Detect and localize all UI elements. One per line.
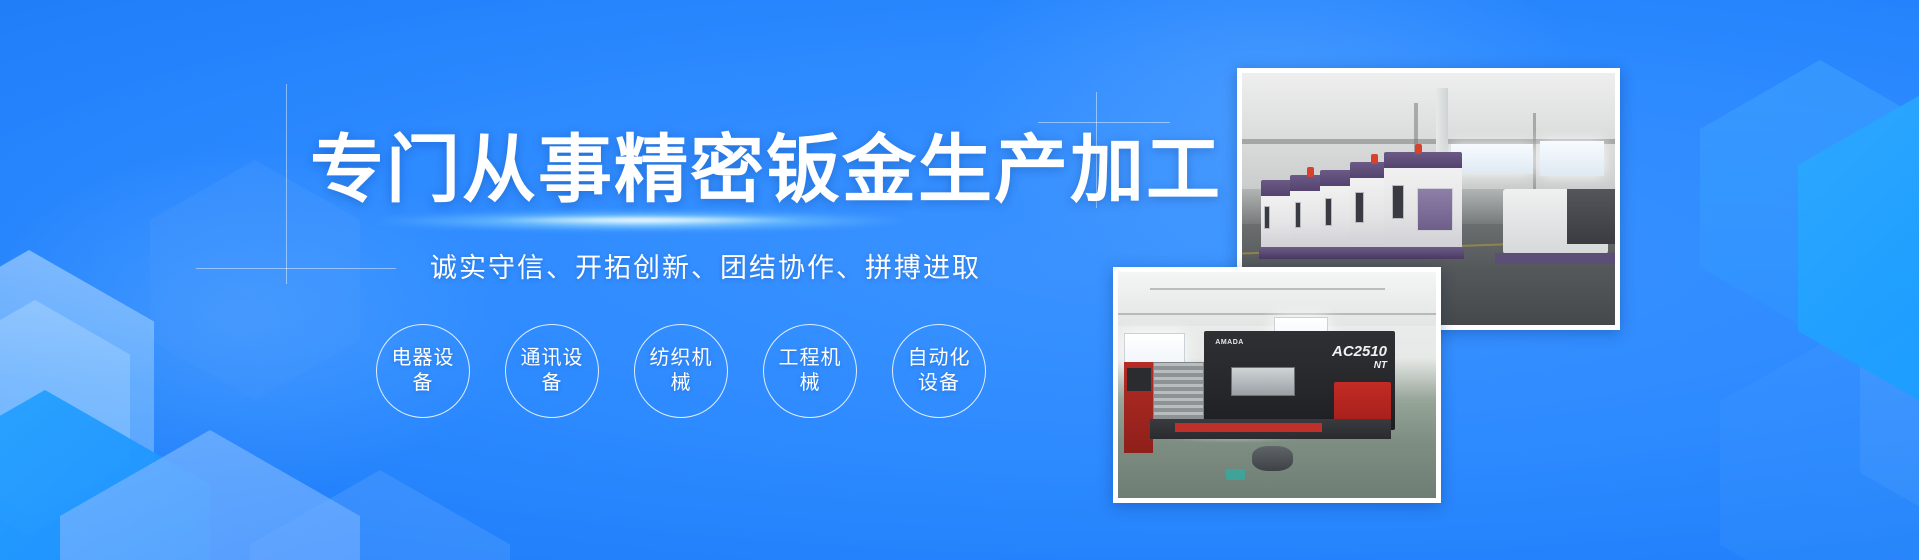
- hexagon-decor-left-5: [250, 470, 510, 560]
- machine-window: [1231, 367, 1296, 397]
- factory-scene-illustration: AMADA AC2510 NT: [1118, 272, 1436, 498]
- category-badge-engineering-machinery[interactable]: 工程机械: [763, 324, 857, 418]
- machine-model-suffix: NT: [1332, 359, 1387, 373]
- machine-bed-rail: [1175, 423, 1321, 432]
- category-badge-automation-equipment[interactable]: 自动化设备: [892, 324, 986, 418]
- category-badge-label: 自动化设备: [905, 346, 973, 396]
- promo-banner: 专门从事精密钣金生产加工 诚实守信、开拓创新、团结协作、拼搏进取 电器设备 通讯…: [0, 0, 1919, 560]
- punch-press-body: AMADA AC2510 NT: [1204, 331, 1395, 430]
- control-kiosk: [1124, 362, 1153, 452]
- machine-model-number: AC2510: [1332, 343, 1387, 360]
- headline-wrap: 专门从事精密钣金生产加工: [310, 124, 970, 216]
- floor-bucket: [1226, 469, 1245, 480]
- background-equipment: [1567, 189, 1615, 244]
- cnc-machine-front: [1384, 166, 1462, 249]
- category-badge-label: 电器设备: [389, 346, 457, 396]
- category-badge-electrical-equipment[interactable]: 电器设备: [376, 324, 470, 418]
- hexagon-decor-right-3: [1720, 330, 1919, 560]
- hexagon-decor-right-4: [1860, 300, 1919, 530]
- headline-glow-core: [430, 216, 860, 224]
- banner-headline: 专门从事精密钣金生产加工: [310, 124, 970, 216]
- ceiling-trim: [1118, 313, 1436, 315]
- motor-unit: [1252, 446, 1293, 471]
- hexagon-decor-right-1: [1798, 82, 1919, 414]
- category-badge-label: 纺织机械: [647, 346, 715, 396]
- photo-amada-turret-punch-press[interactable]: AMADA AC2510 NT: [1113, 267, 1441, 503]
- ceiling-pipe: [1533, 113, 1536, 199]
- crosshair-horizontal-left: [196, 268, 396, 269]
- hexagon-decor-left-4: [0, 300, 130, 518]
- hexagon-decor-right-2: [1700, 60, 1919, 336]
- crosshair-horizontal-right: [1038, 122, 1170, 123]
- machine-model-label: AC2510 NT: [1332, 345, 1387, 373]
- category-badge-label: 工程机械: [776, 346, 844, 396]
- hexagon-decor-left-1: [0, 250, 154, 536]
- category-badge-label: 通讯设备: [518, 346, 586, 396]
- ceiling-rail: [1150, 288, 1385, 290]
- category-badge-communication-equipment[interactable]: 通讯设备: [505, 324, 599, 418]
- category-badge-textile-machinery[interactable]: 纺织机械: [634, 324, 728, 418]
- window: [1451, 144, 1533, 174]
- category-badge-list: 电器设备 通讯设备 纺织机械 工程机械 自动化设备: [376, 324, 986, 418]
- photo-inner: AMADA AC2510 NT: [1118, 272, 1436, 498]
- hexagon-decor-left-3: [60, 430, 360, 560]
- hexagon-decor-left-2: [0, 390, 210, 560]
- window: [1540, 141, 1603, 176]
- banner-subtitle: 诚实守信、开拓创新、团结协作、拼搏进取: [430, 250, 981, 286]
- crosshair-vertical-left: [286, 84, 287, 284]
- machine-brand-label: AMADA: [1215, 339, 1244, 346]
